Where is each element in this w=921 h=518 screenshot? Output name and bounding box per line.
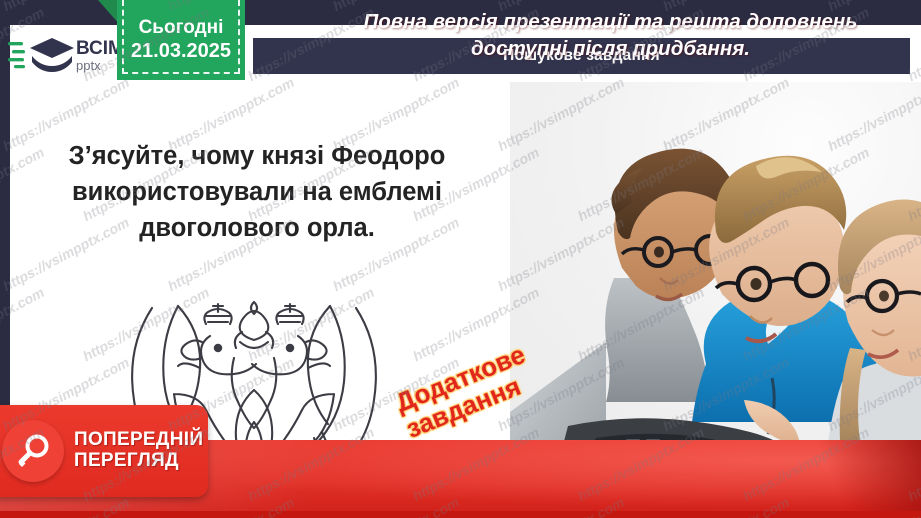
brand-logo[interactable]: ВСІМ pptx	[8, 30, 118, 78]
magnifier-glyph	[13, 431, 53, 471]
task-text: З’ясуйте, чому князі Феодоро використову…	[26, 138, 488, 247]
preview-line-1: ПОПЕРЕДНІЙ	[74, 430, 203, 451]
preview-line-2: ПЕРЕГЛЯД	[74, 451, 203, 472]
date-badge-label: Сьогодні	[139, 18, 224, 38]
preview-badge[interactable]: ПОПЕРЕДНІЙ ПЕРЕГЛЯД	[0, 405, 208, 497]
promo-line-1: Повна версія презентації та решта доповн…	[300, 8, 921, 35]
promo-text: Повна версія презентації та решта доповн…	[300, 8, 921, 62]
promo-line-2: доступні після придбання.	[300, 35, 921, 62]
slide-viewer: З’ясуйте, чому князі Феодоро використову…	[0, 0, 921, 518]
promo-corner-shade	[801, 440, 921, 518]
students-photo	[510, 82, 921, 472]
promo-bottom-edge	[0, 511, 921, 518]
logo-brand-text: ВСІМ	[76, 38, 118, 59]
graduation-cap-icon: ВСІМ pptx	[8, 30, 118, 78]
magnifier-icon	[2, 420, 64, 482]
preview-badge-text: ПОПЕРЕДНІЙ ПЕРЕГЛЯД	[74, 430, 203, 471]
date-badge-value: 21.03.2025	[131, 41, 231, 62]
photo-illustration	[510, 82, 921, 472]
logo-suffix-text: pptx	[76, 58, 101, 73]
date-badge: Сьогодні 21.03.2025	[117, 0, 245, 80]
